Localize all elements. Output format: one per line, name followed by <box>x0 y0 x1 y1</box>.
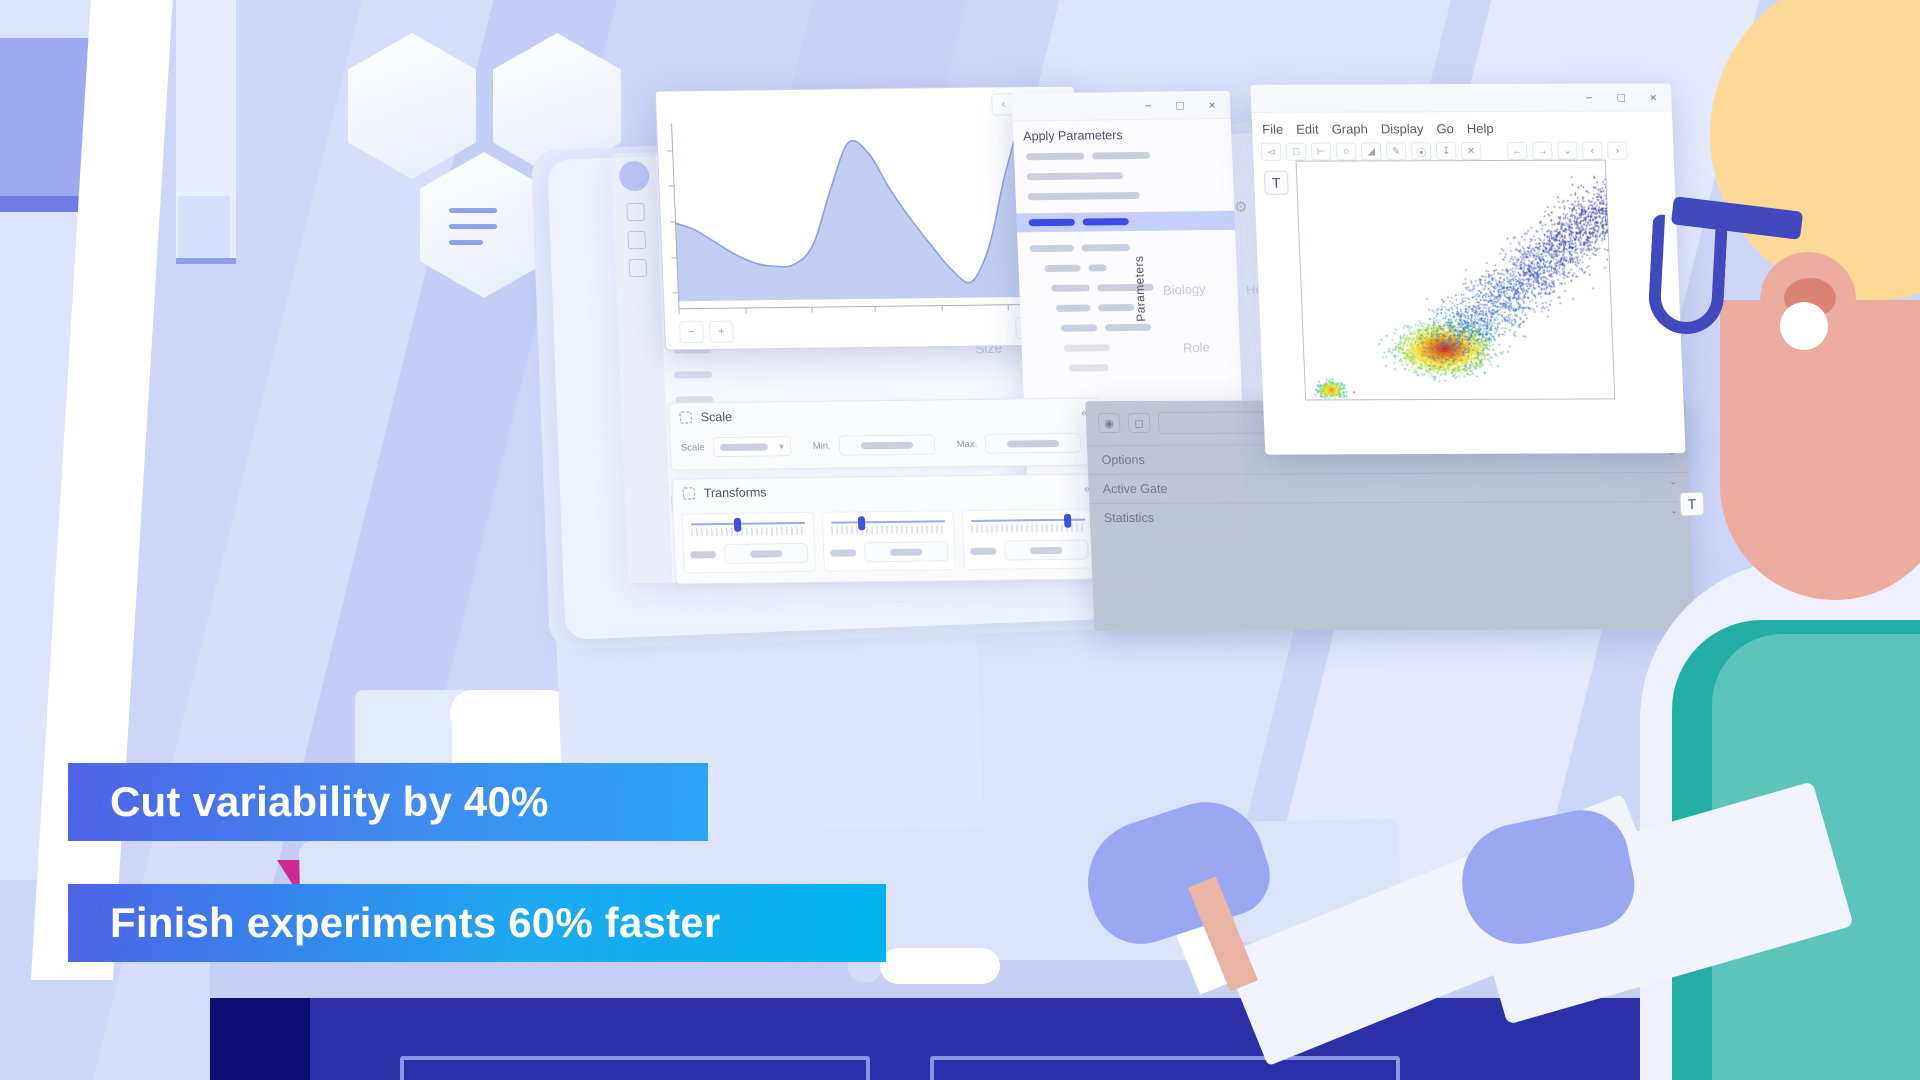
scale-label: Scale <box>681 442 705 453</box>
y-axis-tick <box>667 150 673 151</box>
transforms-panel[interactable]: Transforms « <box>671 473 1105 584</box>
zoom-in-button[interactable]: + <box>709 321 734 343</box>
density-scatter-canvas <box>1297 161 1616 401</box>
slider-knob[interactable] <box>858 516 866 530</box>
statistics-row[interactable]: Statistics ˇ <box>1089 501 1691 532</box>
hexagon-line <box>449 224 497 229</box>
cytometry-titlebar: − □ × <box>1250 83 1671 112</box>
slider-track[interactable] <box>971 519 1085 522</box>
earbud <box>1780 302 1828 350</box>
statistics-row-label: Statistics <box>1104 511 1155 525</box>
x-axis-tick <box>745 307 746 313</box>
wall-sheet-underline <box>176 258 236 264</box>
close-button[interactable]: × <box>1204 96 1221 112</box>
properties-panel-stack: Scale « Scale ▾ Min. Max. Transforms « <box>668 397 1106 592</box>
safety-glasses-lens <box>1647 214 1728 336</box>
computer-mouse[interactable] <box>880 948 1000 984</box>
overlay-label-biology: Biology <box>1163 281 1206 298</box>
y-axis-tick <box>671 257 677 258</box>
scale-select[interactable]: ▾ <box>712 436 791 457</box>
globe-icon[interactable]: ◉ <box>1098 413 1121 433</box>
delete-icon[interactable]: ✕ <box>1461 142 1482 160</box>
parameters-header: Apply Parameters <box>1013 119 1232 148</box>
histogram-plot <box>671 119 1069 310</box>
lasso-gate-icon[interactable]: ⦿ <box>1411 142 1432 160</box>
y-axis-tick <box>673 292 679 293</box>
menu-file[interactable]: File <box>1262 122 1284 137</box>
ellipse-gate-icon[interactable]: ○ <box>1336 142 1357 160</box>
parameters-titlebar: − □ × <box>1012 91 1231 122</box>
x-axis-tick <box>1008 304 1009 310</box>
parameter-row[interactable] <box>1027 171 1221 180</box>
x-axis-tick <box>875 306 876 312</box>
transform-value-input[interactable] <box>724 543 809 564</box>
hexagon-line <box>449 208 497 213</box>
gear-icon[interactable]: ⚙ <box>1234 198 1248 217</box>
y-axis-tick <box>669 186 675 187</box>
panel-title: Scale <box>700 410 732 424</box>
parameter-row-selected[interactable] <box>1016 211 1235 233</box>
transform-slider-card[interactable] <box>962 508 1096 570</box>
menu-graph[interactable]: Graph <box>1331 121 1368 136</box>
menu-help[interactable]: Help <box>1467 121 1494 136</box>
rectangle-gate-icon[interactable]: □ <box>1286 143 1307 161</box>
slider-track[interactable] <box>831 520 945 523</box>
chevron-down-icon[interactable]: ˇ <box>1671 480 1676 494</box>
copy-icon[interactable]: ◻ <box>1128 413 1151 433</box>
parameter-row[interactable] <box>1030 263 1224 272</box>
arrow-left-icon[interactable]: ← <box>1507 142 1528 160</box>
min-input[interactable] <box>838 434 935 455</box>
pointer-icon[interactable]: ◅ <box>1261 143 1282 161</box>
chevron-right-icon[interactable]: › <box>1607 142 1628 160</box>
max-label: Max. <box>957 438 978 449</box>
max-input[interactable] <box>985 433 1082 454</box>
slider-ruler <box>831 525 945 534</box>
parameter-row[interactable] <box>1030 243 1224 252</box>
menu-go[interactable]: Go <box>1436 121 1454 136</box>
pencil-icon[interactable]: ✎ <box>1386 142 1407 160</box>
slider-track[interactable] <box>691 522 805 525</box>
app-logo-icon <box>619 161 650 191</box>
x-axis-tick <box>812 307 813 313</box>
scale-panel-body: Scale ▾ Min. Max. <box>670 426 1100 469</box>
chevron-down-icon[interactable]: ⌄ <box>1557 142 1578 160</box>
arrow-down-icon[interactable]: ↧ <box>1436 142 1457 160</box>
parameter-row[interactable] <box>1032 303 1226 312</box>
transform-value-input[interactable] <box>1004 540 1089 561</box>
options-row-label: Options <box>1101 453 1145 467</box>
slider-knob[interactable] <box>1064 514 1072 528</box>
x-axis-tick <box>941 305 942 311</box>
slider-ruler <box>691 527 805 536</box>
maximize-button[interactable]: □ <box>1172 97 1189 113</box>
stat-banner-speed: Finish experiments 60% faster <box>68 884 886 962</box>
parameters-vertical-tab[interactable]: Parameters <box>1132 256 1148 322</box>
parameter-row[interactable] <box>1028 191 1222 200</box>
bench-drawer[interactable] <box>400 1056 870 1080</box>
expand-icon <box>683 487 695 499</box>
minimize-button[interactable]: − <box>1581 89 1598 105</box>
transform-value-input[interactable] <box>864 541 949 562</box>
menu-display[interactable]: Display <box>1381 121 1424 136</box>
wall-sheet-inner <box>178 196 230 258</box>
quadrant-gate-icon[interactable]: ⊢ <box>1311 143 1332 161</box>
arrow-right-icon[interactable]: → <box>1532 142 1553 160</box>
scale-panel[interactable]: Scale « Scale ▾ Min. Max. <box>668 397 1101 470</box>
stat-banner-text: Finish experiments 60% faster <box>110 899 720 947</box>
x-axis <box>678 304 1068 310</box>
overlay-label-role: Role <box>1183 339 1210 355</box>
hexagon-line <box>449 240 483 245</box>
chevron-left-icon[interactable]: ‹ <box>1582 142 1603 160</box>
active-gate-row-label: Active Gate <box>1102 482 1167 496</box>
chevron-down-icon[interactable]: ˇ <box>1672 509 1677 523</box>
bench-side-panel <box>210 998 310 1080</box>
density-scatter-plot[interactable] <box>1296 160 1616 401</box>
bench-drawer[interactable] <box>930 1056 1400 1080</box>
panel-title: Transforms <box>704 485 767 500</box>
minimize-button[interactable]: − <box>1140 97 1157 113</box>
y-axis-tick <box>670 221 676 222</box>
maximize-button[interactable]: □ <box>1613 89 1630 105</box>
cytometry-menubar: File Edit Graph Display Go Help <box>1252 111 1673 140</box>
illustration-canvas: ← → ☰ [+] △ ▦ ▤ ↻ File Edit Workspace To… <box>0 0 1920 1080</box>
chevron-down-icon: ▾ <box>779 441 784 452</box>
beaker-cap <box>450 690 572 736</box>
page-title: Apply Parameters <box>1023 128 1123 143</box>
add-box-icon[interactable] <box>629 259 648 277</box>
transform-slider-card[interactable] <box>682 512 816 574</box>
x-axis-tick <box>678 308 679 314</box>
stat-banner-text: Cut variability by 40% <box>110 778 549 826</box>
text-tool-button-footer[interactable]: T <box>1680 492 1705 517</box>
expand-icon <box>679 411 691 423</box>
stat-banner-variability: Cut variability by 40% <box>68 763 708 841</box>
text-tool-button[interactable]: T <box>1264 171 1289 195</box>
histogram-svg <box>671 119 1070 302</box>
slider-knob[interactable] <box>734 518 742 532</box>
transforms-sliders <box>673 502 1104 583</box>
min-label: Min. <box>813 440 831 451</box>
cytometry-graph-window[interactable]: − □ × File Edit Graph Display Go Help ◅ … <box>1250 83 1685 454</box>
close-button[interactable]: × <box>1645 89 1662 105</box>
parameter-row[interactable] <box>1033 323 1227 332</box>
active-gate-row[interactable]: Active Gate ˇ <box>1088 472 1690 503</box>
test-tubes-icon[interactable] <box>627 231 646 249</box>
zoom-out-button[interactable]: − <box>679 321 704 343</box>
polygon-gate-icon[interactable]: ◢ <box>1361 142 1382 160</box>
parameter-row[interactable] <box>1026 151 1220 160</box>
parameter-row[interactable] <box>1034 363 1228 372</box>
document-icon[interactable] <box>626 203 645 221</box>
transform-slider-card[interactable] <box>822 510 956 572</box>
menu-edit[interactable]: Edit <box>1296 122 1319 137</box>
